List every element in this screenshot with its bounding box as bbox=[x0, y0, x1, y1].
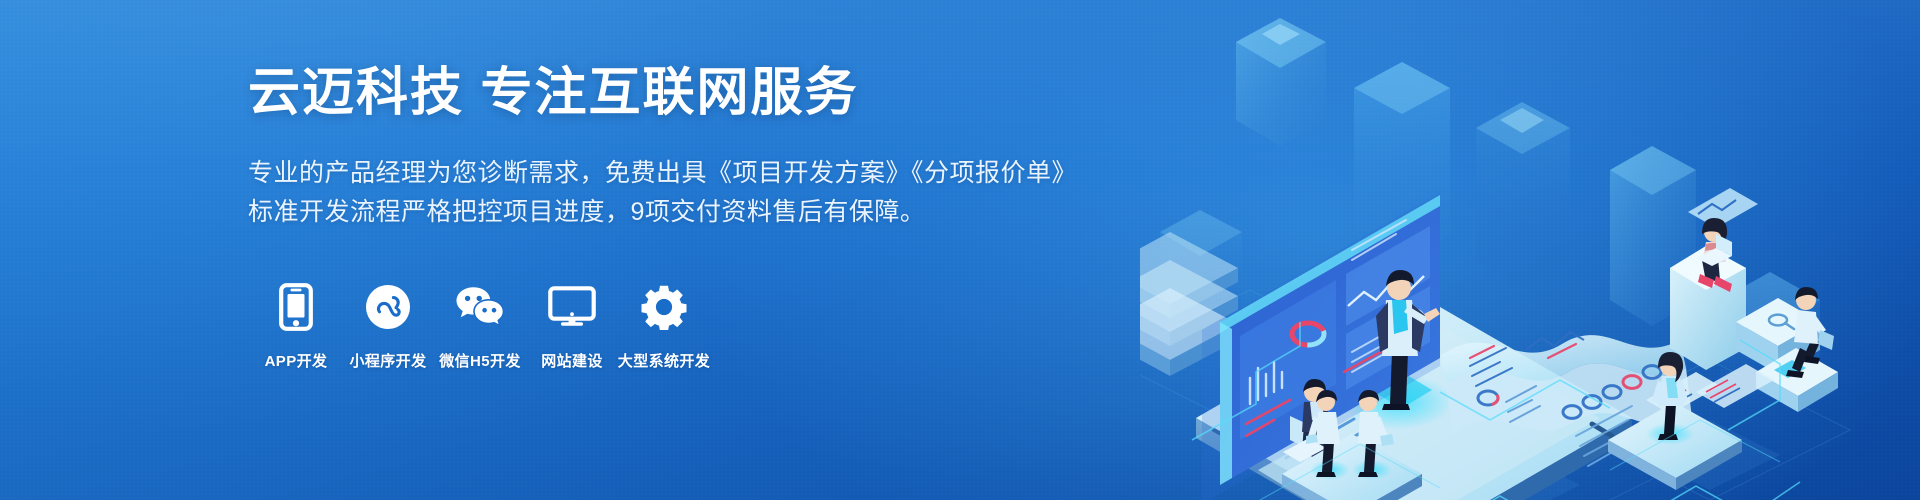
service-list: APP开发 小程序开发 bbox=[250, 282, 710, 371]
subtitle-line-1: 专业的产品经理为您诊断需求，免费出具《项目开发方案》《分项报价单》 bbox=[248, 154, 1048, 193]
service-label: 大型系统开发 bbox=[618, 350, 710, 371]
service-label: 小程序开发 bbox=[349, 350, 426, 371]
hero-banner: 云迈科技 专注互联网服务 专业的产品经理为您诊断需求，免费出具《项目开发方案》《… bbox=[0, 0, 1920, 500]
service-label: 微信H5开发 bbox=[439, 350, 521, 371]
mini-program-icon bbox=[363, 282, 413, 332]
page-title: 云迈科技 专注互联网服务 bbox=[248, 62, 1048, 124]
subtitle-group: 专业的产品经理为您诊断需求，免费出具《项目开发方案》《分项报价单》 标准开发流程… bbox=[248, 154, 1048, 232]
gear-icon bbox=[639, 282, 689, 332]
service-item-mini-program[interactable]: 小程序开发 bbox=[342, 282, 434, 371]
hero-text-block: 云迈科技 专注互联网服务 专业的产品经理为您诊断需求，免费出具《项目开发方案》《… bbox=[248, 62, 1048, 232]
service-label: APP开发 bbox=[265, 350, 328, 371]
service-item-wechat-h5[interactable]: 微信H5开发 bbox=[434, 282, 526, 371]
service-label: 网站建设 bbox=[541, 350, 603, 371]
subtitle-line-2: 标准开发流程严格把控项目进度，9项交付资料售后有保障。 bbox=[248, 193, 1048, 232]
service-item-large-system[interactable]: 大型系统开发 bbox=[618, 282, 710, 371]
mobile-phone-icon bbox=[271, 282, 321, 332]
service-item-app[interactable]: APP开发 bbox=[250, 282, 342, 371]
service-item-website[interactable]: 网站建设 bbox=[526, 282, 618, 371]
isometric-data-platform-illustration bbox=[1140, 0, 1920, 500]
monitor-icon bbox=[547, 282, 597, 332]
wechat-icon bbox=[455, 282, 505, 332]
